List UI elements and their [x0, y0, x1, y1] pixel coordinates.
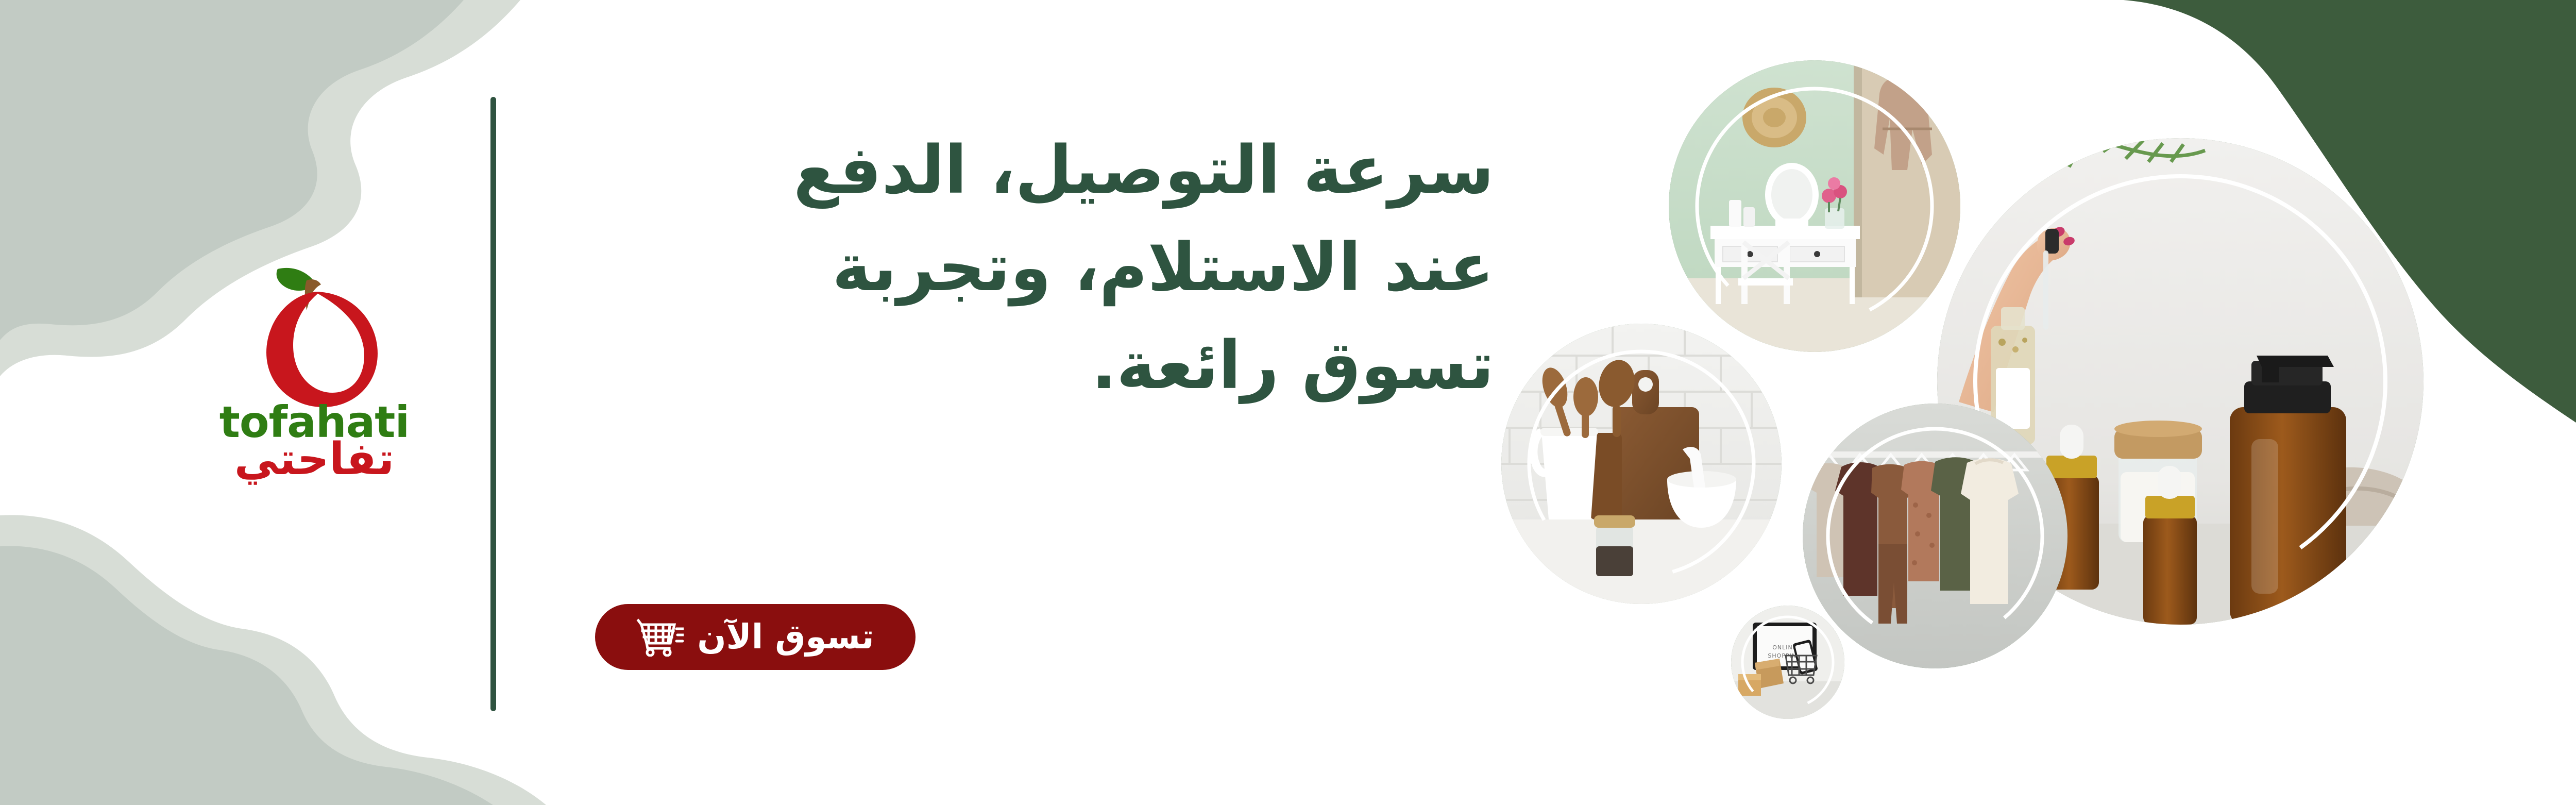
- kitchenware-circle: [1488, 310, 1795, 617]
- brand-logo[interactable]: tofahati تفاحتي: [170, 242, 459, 562]
- promo-banner: tofahati تفاحتي سرعة التوصيل، الدفع عند …: [0, 0, 2576, 805]
- apple-logo-icon: [229, 242, 399, 412]
- logo-arabic-text: تفاحتي: [234, 437, 395, 481]
- shop-now-label: تسوق الآن: [697, 620, 874, 654]
- product-collage: ONLINE SHOPPING: [1468, 0, 2576, 805]
- shopping-cart-icon: [636, 617, 684, 657]
- home-furniture-circle: [1649, 40, 1980, 372]
- shop-now-button[interactable]: تسوق الآن: [595, 604, 916, 670]
- headline-text: سرعة التوصيل، الدفع عند الاستلام، وتجربة…: [690, 122, 1494, 414]
- vertical-divider: [490, 97, 496, 711]
